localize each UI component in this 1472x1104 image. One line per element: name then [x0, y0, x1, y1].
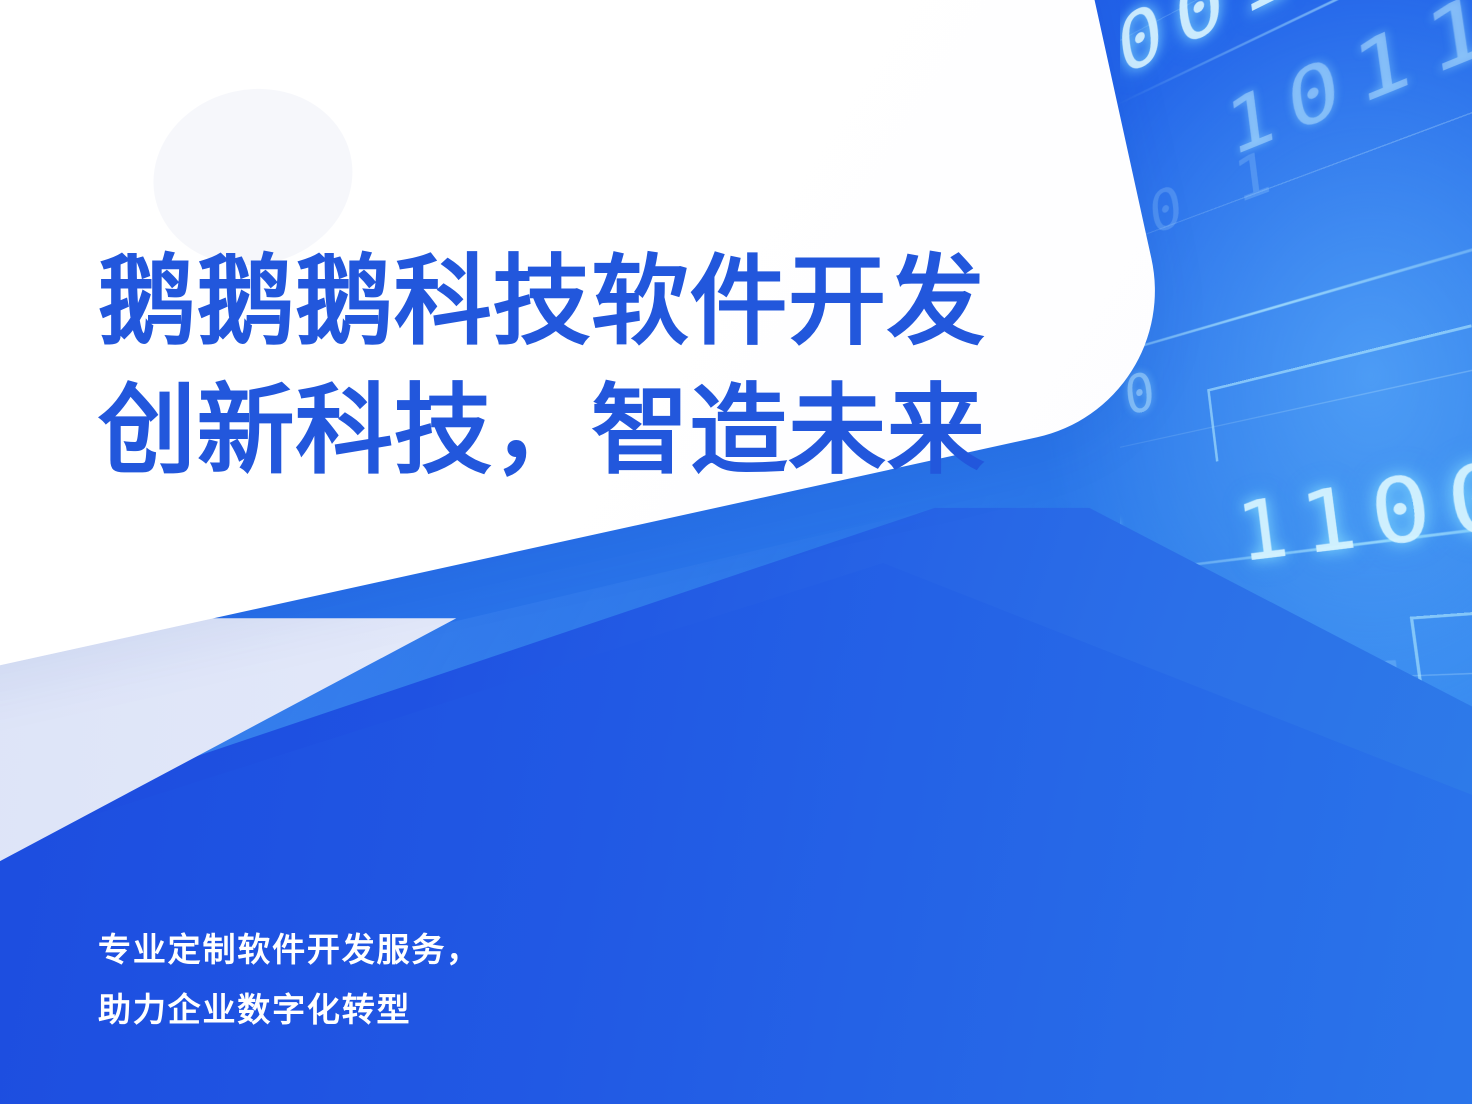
page-subtitle: 专业定制软件开发服务， 助力企业数字化转型 [98, 920, 798, 1040]
subtitle-line-2: 助力企业数字化转型 [98, 980, 798, 1040]
title-line-2: 创新科技，智造未来 [98, 367, 1098, 496]
page-title: 鹅鹅鹅科技软件开发 创新科技，智造未来 [98, 238, 1098, 497]
circuit-trace [1207, 324, 1472, 461]
title-line-1: 鹅鹅鹅科技软件开发 [98, 238, 1098, 367]
promo-poster: 0110000 1 1001111 1 1011100 0 10 1010 1 … [0, 0, 1472, 1104]
subtitle-line-1: 专业定制软件开发服务， [98, 920, 798, 980]
